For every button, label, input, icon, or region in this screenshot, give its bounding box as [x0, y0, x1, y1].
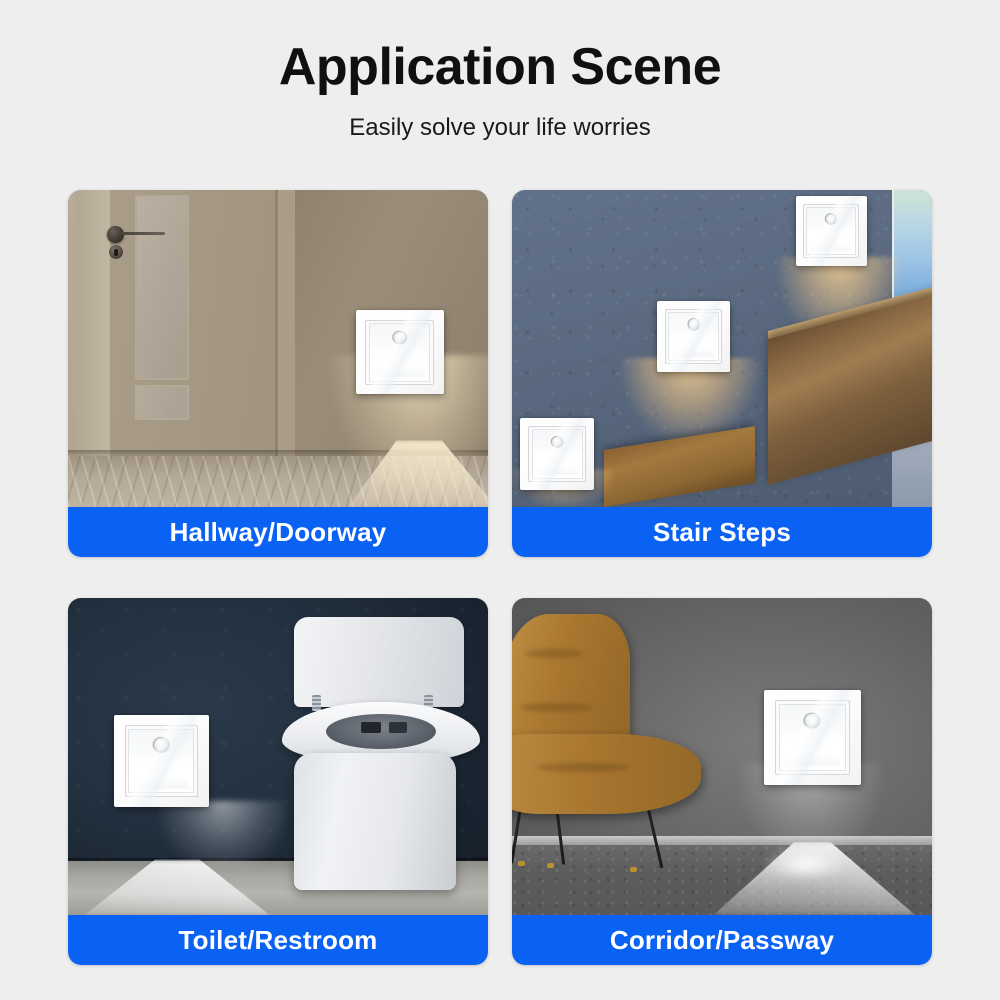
toilet-bowl — [326, 714, 437, 749]
scene-photo-corridor — [512, 598, 932, 915]
chair-seat — [512, 734, 701, 813]
pir-sensor-icon — [551, 435, 564, 447]
toilet-lid — [294, 617, 464, 707]
chair-tuft-line-2 — [520, 703, 591, 713]
caption-label: Stair Steps — [653, 517, 791, 548]
toilet-nozzle-left — [361, 722, 381, 733]
fixture-inner-frame — [775, 700, 850, 774]
night-light-fixture — [114, 715, 209, 807]
toilet-hinge-left — [312, 695, 321, 711]
chair-foot-front-left — [518, 861, 525, 866]
page-subtitle: Easily solve your life worries — [0, 114, 1000, 142]
light-diffuser — [374, 352, 426, 377]
fixture-inner-frame — [528, 426, 585, 482]
pir-sensor-icon — [804, 712, 821, 729]
fixture-inner-frame — [665, 309, 722, 365]
hallway-door — [110, 190, 278, 461]
fixture-recess — [128, 729, 194, 793]
caption-label: Toilet/Restroom — [179, 925, 378, 956]
night-light-fixture-lower — [520, 418, 594, 489]
page-title: Application Scene — [0, 40, 1000, 95]
light-diffuser — [783, 737, 841, 765]
door-keyhole-icon — [109, 245, 123, 259]
fixture-recess — [779, 704, 846, 770]
scene-card-toilet[interactable]: Toilet/Restroom — [68, 598, 488, 965]
toilet-fixture — [282, 617, 479, 890]
corridor-light-hotspot — [764, 848, 848, 880]
light-diffuser — [672, 337, 715, 358]
hallway-door-panel-upper — [135, 195, 189, 379]
night-light-fixture-middle — [657, 301, 731, 372]
pir-sensor-icon — [392, 330, 407, 345]
night-light-fixture — [764, 690, 861, 785]
scene-card-corridor[interactable]: Corridor/Passway — [512, 598, 932, 965]
fixture-recess — [532, 429, 583, 478]
page-header: Application Scene Easily solve your life… — [0, 0, 1000, 142]
chair-foot-front-right — [547, 863, 554, 868]
fixture-inner-frame — [803, 204, 859, 258]
fixture-inner-frame — [125, 725, 199, 797]
scene-photo-stair — [512, 190, 932, 507]
scene-card-stair[interactable]: Stair Steps — [512, 190, 932, 557]
scene-card-hallway[interactable]: Hallway/Doorway — [68, 190, 488, 557]
pir-sensor-icon — [153, 737, 170, 753]
light-diffuser — [536, 454, 579, 475]
caption-bar-stair: Stair Steps — [512, 507, 932, 557]
pir-sensor-icon — [687, 318, 700, 330]
night-light-fixture-upper — [796, 196, 867, 266]
door-handle-bar — [121, 232, 165, 235]
caption-bar-corridor: Corridor/Passway — [512, 915, 932, 965]
fixture-recess — [806, 207, 855, 255]
hallway-door-panel-lower — [135, 385, 189, 420]
night-light-fixture — [356, 310, 444, 394]
scene-photo-toilet — [68, 598, 488, 915]
scene-grid: Hallway/Doorway — [68, 190, 932, 965]
fixture-recess — [369, 323, 430, 381]
fixture-recess — [668, 312, 719, 361]
light-diffuser — [133, 761, 189, 788]
light-diffuser — [810, 231, 852, 251]
toilet-body — [294, 753, 456, 889]
caption-label: Hallway/Doorway — [170, 517, 387, 548]
toilet-nozzle-right — [389, 722, 407, 733]
caption-label: Corridor/Passway — [610, 925, 834, 956]
caption-bar-toilet: Toilet/Restroom — [68, 915, 488, 965]
caption-bar-hallway: Hallway/Doorway — [68, 507, 488, 557]
pir-sensor-icon — [825, 213, 837, 225]
fixture-inner-frame — [365, 320, 434, 386]
scene-photo-hallway — [68, 190, 488, 507]
